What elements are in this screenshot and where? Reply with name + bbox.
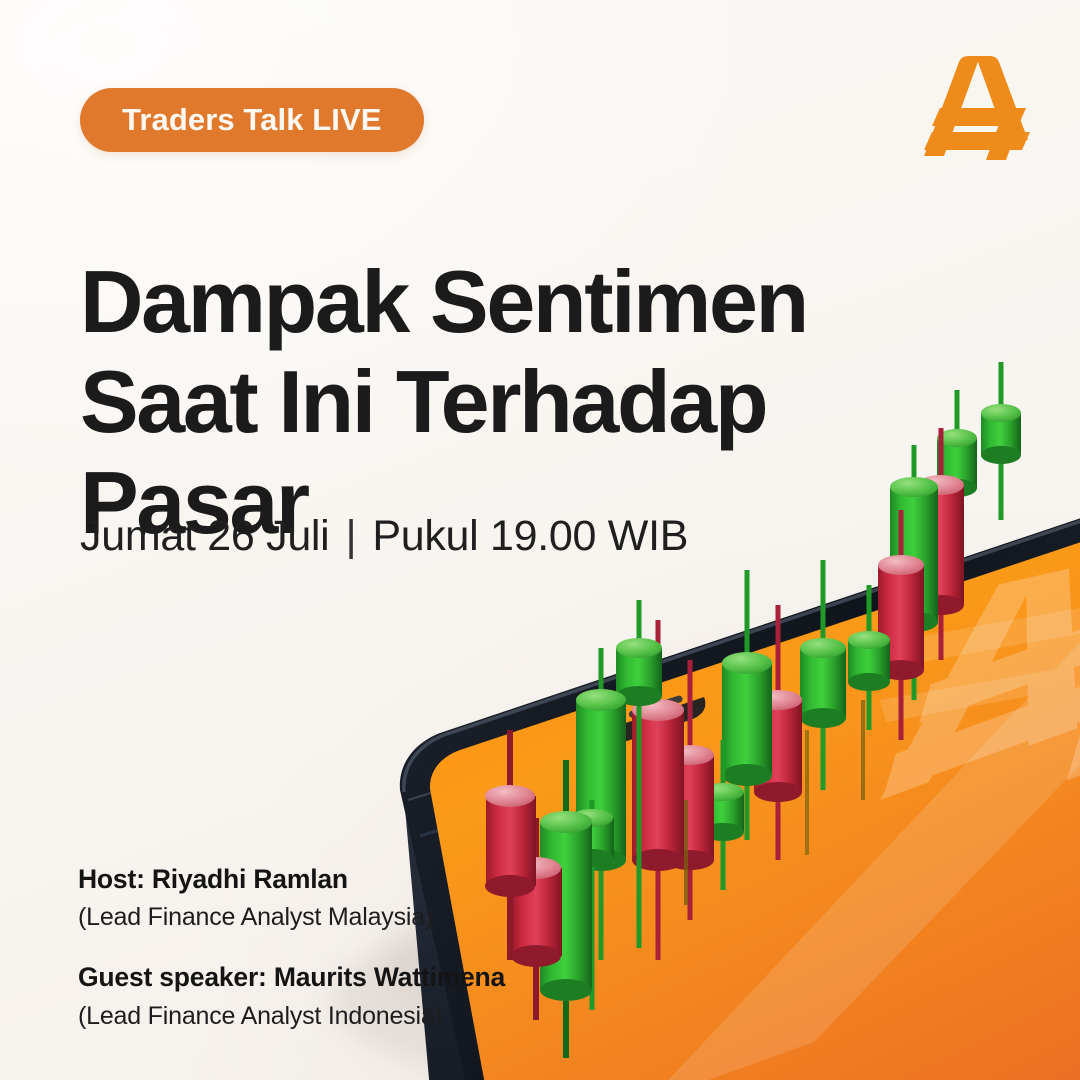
page-title: Dampak Sentimen Saat Ini Terhadap Pasar (80, 252, 840, 553)
headline-line-2: Saat Ini Terhadap (80, 352, 840, 452)
speaker-credits: Host: Riyadhi Ramlan (Lead Finance Analy… (78, 863, 505, 1032)
event-schedule: Jumat 26 Juli | Pukul 19.00 WIB (80, 512, 688, 561)
event-date: Jumat 26 Juli (80, 512, 329, 561)
schedule-separator: | (345, 512, 356, 561)
live-badge[interactable]: Traders Talk LIVE (80, 88, 424, 152)
atfx-a-logo[interactable] (918, 56, 1036, 160)
poster-canvas: Traders Talk LIVE Dampak Sentimen Saat I… (0, 0, 1080, 1080)
guest-name: Guest speaker: Maurits Wattimena (78, 961, 505, 994)
live-badge-label: Traders Talk LIVE (122, 102, 382, 138)
guest-block: Guest speaker: Maurits Wattimena (Lead F… (78, 961, 505, 1032)
headline-line-1: Dampak Sentimen (80, 252, 840, 352)
guest-role: (Lead Finance Analyst Indonesia) (78, 1000, 505, 1033)
host-name: Host: Riyadhi Ramlan (78, 863, 505, 896)
atfx-a-logo-glyph (918, 56, 1036, 160)
event-time: Pukul 19.00 WIB (372, 512, 688, 561)
host-role: (Lead Finance Analyst Malaysia) (78, 901, 505, 934)
host-block: Host: Riyadhi Ramlan (Lead Finance Analy… (78, 863, 505, 934)
